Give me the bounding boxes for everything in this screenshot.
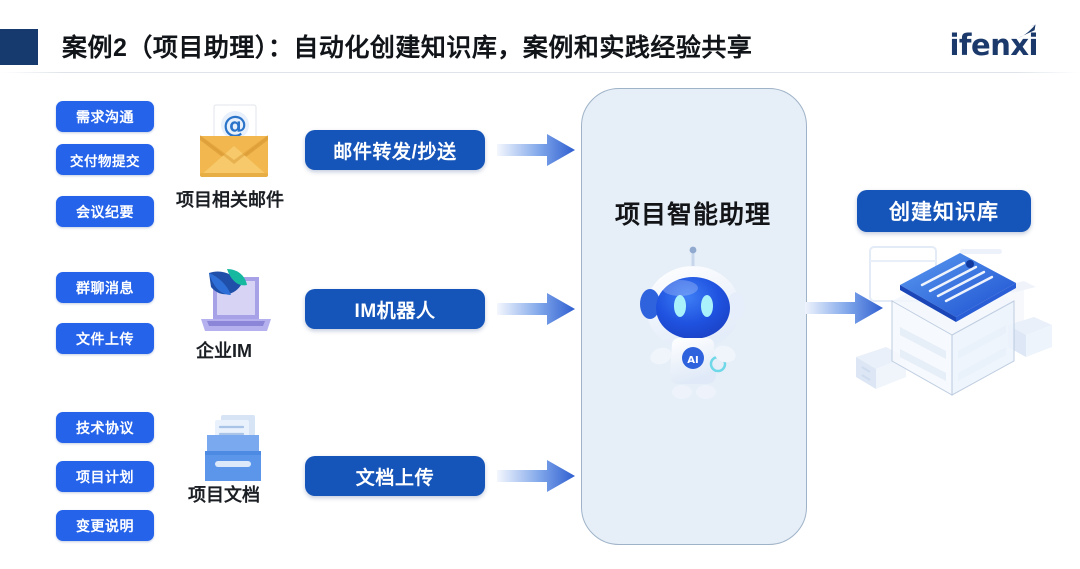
channel-pill-email-forward[interactable]: 邮件转发/抄送 [305, 130, 485, 170]
tag-requirement-comm[interactable]: 需求沟通 [56, 101, 154, 132]
source-caption-im: 企业IM [196, 337, 252, 363]
source-caption-email: 项目相关邮件 [176, 186, 284, 212]
tag-deliverable-submit[interactable]: 交付物提交 [56, 144, 154, 175]
laptop-im-icon [193, 263, 273, 339]
slide-header: 案例2（项目助理）：自动化创建知识库，案例和实践经验共享 ifenxi [0, 0, 1080, 74]
header-divider [0, 72, 1080, 73]
arrow-right-icon [497, 134, 575, 166]
tag-group-chat[interactable]: 群聊消息 [56, 272, 154, 303]
arrow-right-icon [497, 460, 575, 492]
document-folder-icon [197, 413, 273, 487]
email-envelope-icon: @ [190, 104, 278, 182]
tag-change-note[interactable]: 变更说明 [56, 510, 154, 541]
slide-canvas: 案例2（项目助理）：自动化创建知识库，案例和实践经验共享 ifenxi 需求沟通… [0, 0, 1080, 569]
page-title: 案例2（项目助理）：自动化创建知识库，案例和实践经验共享 [62, 28, 752, 64]
assistant-title: 项目智能助理 [581, 195, 805, 231]
svg-text:@: @ [223, 111, 247, 139]
header-accent-block [0, 29, 38, 65]
arrow-right-icon [497, 293, 575, 325]
knowledge-base-pill[interactable]: 创建知识库 [857, 190, 1031, 232]
tag-meeting-minutes[interactable]: 会议纪要 [56, 196, 154, 227]
channel-pill-im-bot[interactable]: IM机器人 [305, 289, 485, 329]
knowledge-base-cube-icon [848, 243, 1058, 413]
source-caption-document: 项目文档 [188, 481, 260, 507]
tag-file-upload[interactable]: 文件上传 [56, 323, 154, 354]
tag-tech-agreement[interactable]: 技术协议 [56, 412, 154, 443]
channel-pill-doc-upload[interactable]: 文档上传 [305, 456, 485, 496]
tag-project-plan[interactable]: 项目计划 [56, 461, 154, 492]
logo-swoosh-icon [1016, 24, 1038, 40]
robot-ai-badge-label: AI [687, 355, 698, 366]
ai-robot-icon: AI [628, 246, 758, 406]
